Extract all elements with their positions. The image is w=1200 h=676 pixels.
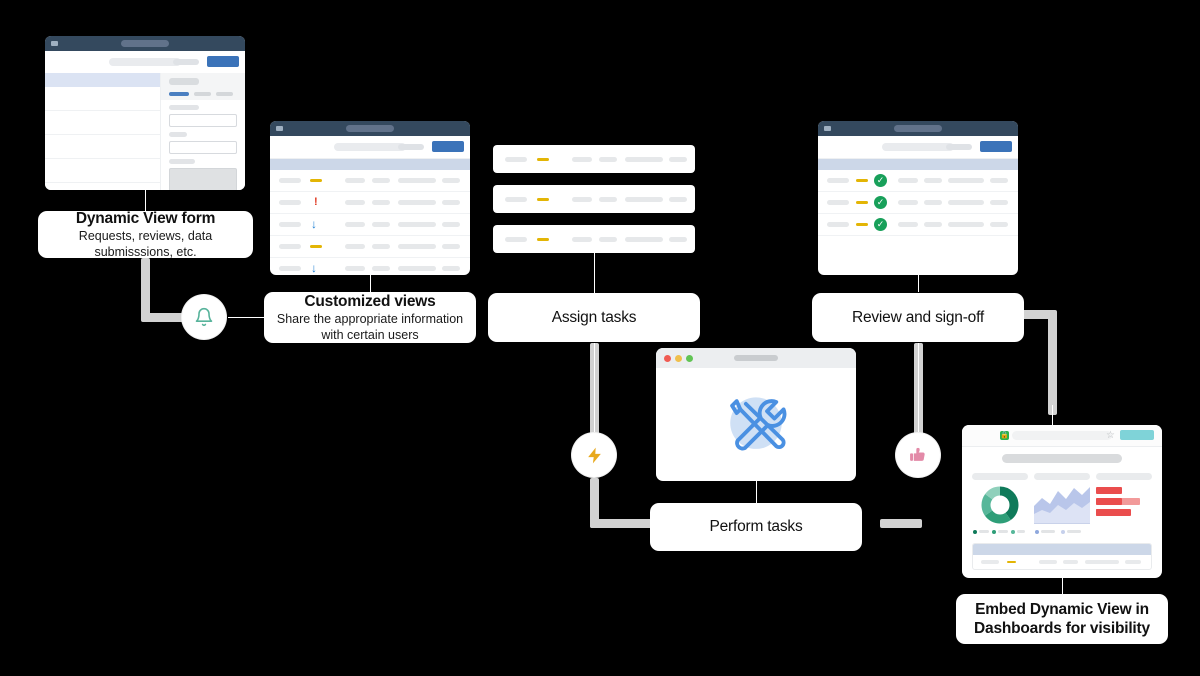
- window-toolbar: [270, 136, 470, 159]
- bar: [1096, 487, 1122, 494]
- review-sign-off-window[interactable]: ✓ ✓ ✓: [818, 121, 1018, 275]
- form-grid-pane: [45, 73, 161, 190]
- lightning-bolt-icon: [585, 446, 604, 465]
- connector-label-right: [141, 313, 186, 322]
- window-toolbar: [818, 136, 1018, 159]
- grid-row[interactable]: [45, 135, 161, 159]
- maximize-icon[interactable]: [686, 355, 693, 362]
- label-subtitle: Requests, reviews, data submisssions, et…: [48, 229, 243, 260]
- form-tab[interactable]: [194, 92, 211, 96]
- lock-icon: 🔒: [1000, 431, 1009, 440]
- window-menu-icon: [51, 41, 58, 46]
- priority-medium-icon: [537, 158, 549, 161]
- window-title-placeholder: [121, 40, 169, 47]
- label-embed-dynamic-view: Embed Dynamic View in Dashboards for vis…: [956, 594, 1168, 644]
- bell-icon: [194, 307, 214, 327]
- connector-bell-to-views: [228, 317, 264, 318]
- window-titlebar: [818, 121, 1018, 136]
- table-header: [270, 159, 470, 170]
- label-assign-tasks: Assign tasks: [488, 293, 700, 342]
- form-tab[interactable]: [216, 92, 233, 96]
- priority-medium-icon: [856, 223, 868, 226]
- search-field-placeholder[interactable]: [109, 58, 181, 66]
- table-row[interactable]: [270, 236, 470, 258]
- connector-thumb-to-perform: [880, 519, 922, 528]
- connector-cards-to-label: [594, 253, 595, 293]
- dashboard-window[interactable]: 🔒 ☆: [962, 425, 1162, 578]
- priority-medium-icon: [1007, 561, 1016, 563]
- browser-toolbar: 🔒 ☆: [962, 425, 1162, 447]
- field-input[interactable]: [169, 114, 237, 127]
- close-icon[interactable]: [664, 355, 671, 362]
- connector-grid-to-label: [370, 275, 371, 292]
- priority-medium-icon: [856, 179, 868, 182]
- toolbar-label-placeholder: [173, 59, 199, 65]
- chart-legend: [973, 529, 1028, 534]
- dynamic-view-form-window[interactable]: [45, 36, 245, 190]
- connector-dashboard-down: [1048, 310, 1057, 415]
- perform-tasks-window[interactable]: [656, 348, 856, 481]
- table-row[interactable]: ✓: [818, 170, 1018, 192]
- primary-action-button[interactable]: [980, 141, 1012, 152]
- chart-panel-area: [1034, 473, 1090, 535]
- task-row-card[interactable]: [493, 225, 695, 253]
- window-menu-icon: [276, 126, 283, 131]
- connector-label-down: [141, 258, 150, 318]
- field-label: [169, 159, 195, 164]
- dashboard-table[interactable]: ! ↓: [972, 543, 1152, 570]
- window-titlebar: [45, 36, 245, 51]
- priority-medium-icon: [310, 245, 322, 248]
- status-complete-icon: ✓: [874, 218, 887, 231]
- connector-bolt-hair: [594, 343, 595, 435]
- table-row[interactable]: [973, 555, 1151, 570]
- badge-approval[interactable]: [896, 433, 940, 477]
- priority-medium-icon: [310, 179, 322, 182]
- primary-action-button[interactable]: [207, 56, 239, 67]
- label-customized-views: Customized views Share the appropriate i…: [264, 292, 476, 343]
- customized-views-window[interactable]: ! ↓ ↓: [270, 121, 470, 275]
- selected-row[interactable]: [45, 73, 161, 87]
- window-toolbar: [45, 51, 245, 74]
- connector-tools-to-perform: [756, 481, 757, 503]
- primary-action-button[interactable]: [432, 141, 464, 152]
- dashboard-action-button[interactable]: [1120, 430, 1154, 440]
- label-title: Review and sign-off: [852, 308, 984, 327]
- grid-row[interactable]: [45, 87, 161, 111]
- label-title: Assign tasks: [552, 308, 637, 327]
- table-row[interactable]: ✓: [818, 214, 1018, 236]
- label-title: Embed Dynamic View in Dashboards for vis…: [966, 600, 1158, 639]
- chart-title-placeholder: [1096, 473, 1152, 480]
- chart-title-placeholder: [1034, 473, 1090, 480]
- connector-signoff-to-label: [918, 275, 919, 292]
- connector-thumb-hair: [918, 343, 919, 435]
- priority-high-icon: !: [314, 197, 318, 208]
- connector-dashboard-hair: [1052, 405, 1053, 427]
- badge-automation[interactable]: [572, 433, 616, 477]
- search-field-placeholder[interactable]: [334, 143, 406, 151]
- bar: [1096, 498, 1122, 505]
- task-row-card[interactable]: [493, 185, 695, 213]
- label-perform-tasks: Perform tasks: [650, 503, 862, 551]
- window-menu-icon: [824, 126, 831, 131]
- table-row[interactable]: [270, 170, 470, 192]
- field-label: [169, 132, 187, 137]
- field-label: [169, 105, 199, 110]
- form-header: [161, 73, 245, 100]
- dashboard-title-placeholder: [1002, 454, 1122, 463]
- chart-title-placeholder: [972, 473, 1028, 480]
- priority-low-icon: ↓: [311, 262, 317, 274]
- task-row-card[interactable]: [493, 145, 695, 173]
- priority-medium-icon: [537, 238, 549, 241]
- table-header: [818, 159, 1018, 170]
- tools-wrench-screwdriver-icon: [710, 379, 802, 471]
- chart-panel-bar: [1096, 473, 1152, 535]
- thumbs-up-icon: [908, 445, 928, 465]
- connector-dashboard-to-embed: [1062, 578, 1063, 594]
- search-field-placeholder[interactable]: [882, 143, 954, 151]
- label-title: Customized views: [304, 292, 435, 311]
- window-title-placeholder: [346, 125, 394, 132]
- minimize-icon[interactable]: [675, 355, 682, 362]
- workflow-diagram: Dynamic View form Requests, reviews, dat…: [0, 0, 1200, 676]
- grid-row[interactable]: [45, 111, 161, 135]
- grid-row[interactable]: [45, 183, 161, 190]
- table-row[interactable]: ↓: [270, 258, 470, 275]
- toolbar-label-placeholder: [946, 144, 972, 150]
- table-header: [973, 544, 1151, 555]
- label-title: Dynamic View form: [76, 209, 215, 228]
- chart-panel-donut: [972, 473, 1028, 535]
- bar: [1096, 509, 1120, 516]
- label-dynamic-view-form: Dynamic View form Requests, reviews, dat…: [38, 211, 253, 258]
- toolbar-label-placeholder: [398, 144, 424, 150]
- form-title-placeholder: [169, 78, 199, 85]
- label-review-sign-off: Review and sign-off: [812, 293, 1024, 342]
- badge-notification[interactable]: [182, 295, 226, 339]
- label-subtitle: Share the appropriate information with c…: [274, 312, 466, 343]
- window-title-placeholder: [894, 125, 942, 132]
- field-textarea[interactable]: [169, 168, 237, 190]
- area-chart: [1034, 484, 1090, 524]
- priority-medium-icon: [856, 201, 868, 204]
- tools-illustration: [656, 368, 856, 481]
- table-row[interactable]: ✓: [818, 192, 1018, 214]
- donut-chart: [974, 484, 1026, 526]
- table-row[interactable]: ↓: [270, 214, 470, 236]
- star-icon[interactable]: ☆: [1106, 430, 1115, 441]
- chart-legend: [1035, 529, 1090, 534]
- field-input[interactable]: [169, 141, 237, 154]
- window-title-placeholder: [734, 355, 778, 361]
- status-complete-icon: ✓: [874, 174, 887, 187]
- address-bar[interactable]: [1012, 431, 1112, 440]
- window-titlebar: [270, 121, 470, 136]
- table-row[interactable]: !: [270, 192, 470, 214]
- form-detail-pane: [160, 73, 245, 190]
- window-titlebar: [656, 348, 856, 368]
- label-title: Perform tasks: [709, 517, 802, 536]
- priority-medium-icon: [537, 198, 549, 201]
- grid-row[interactable]: [45, 159, 161, 183]
- priority-low-icon: ↓: [311, 218, 317, 230]
- form-tab-active[interactable]: [169, 92, 189, 96]
- status-complete-icon: ✓: [874, 196, 887, 209]
